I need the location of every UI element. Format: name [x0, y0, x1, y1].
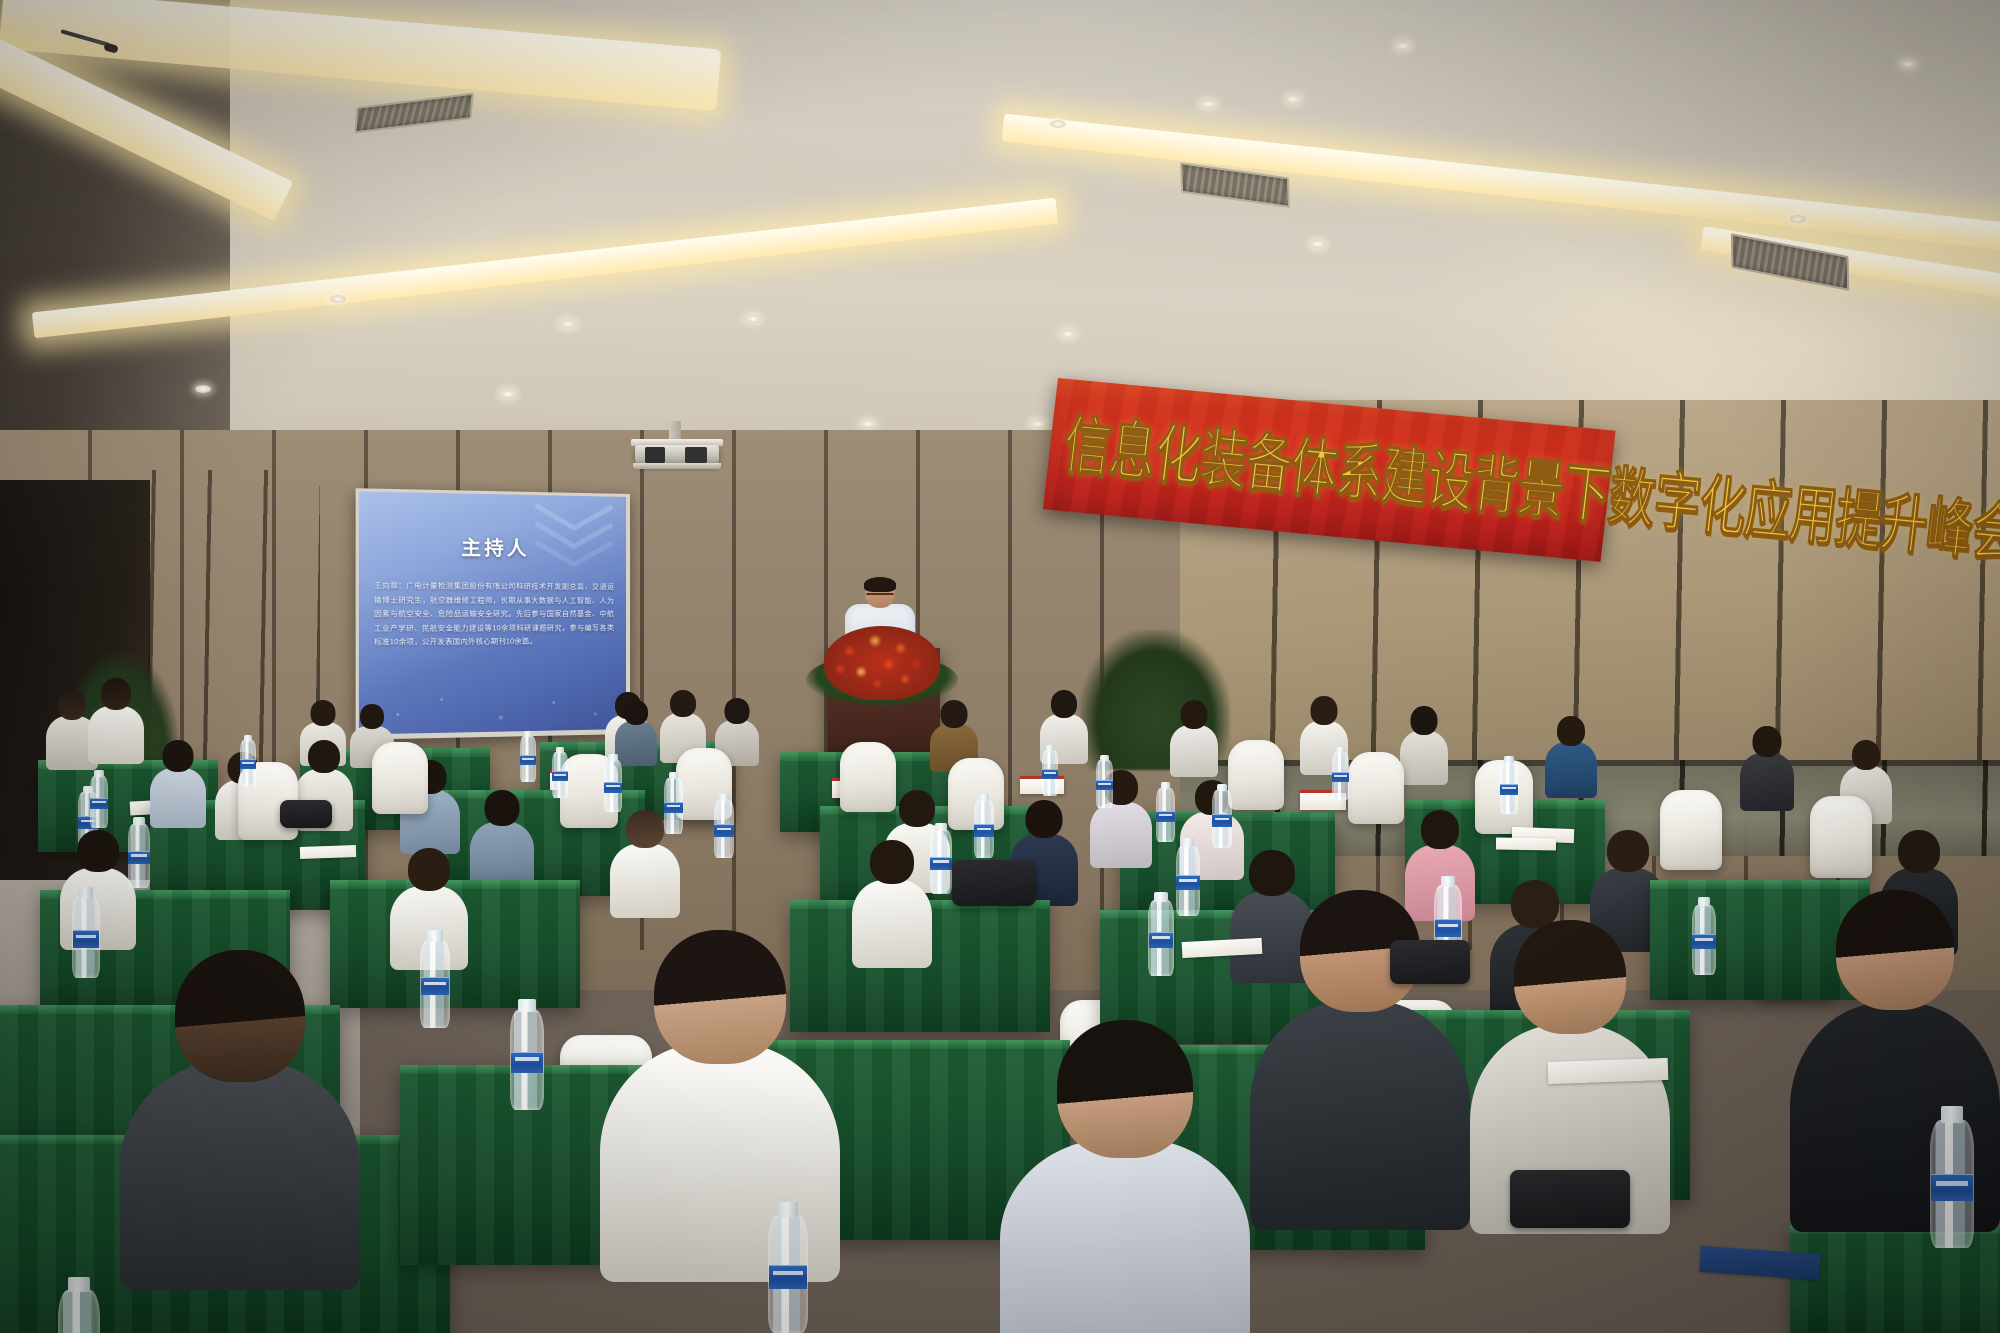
attendee-bag — [1390, 940, 1470, 984]
presenter-hair — [864, 577, 896, 592]
bottled-water — [520, 736, 536, 782]
bottled-water — [1156, 788, 1175, 842]
attendee-head — [58, 690, 86, 720]
attendee-head — [1607, 830, 1649, 872]
attendee-head — [1514, 920, 1626, 1034]
attendee-head — [654, 930, 786, 1064]
attendee-bag — [280, 800, 332, 828]
projected-slide: 主持人 王向章：广电计量检测集团股份有限公司科研技术开发副总监，交通运输博士研究… — [359, 491, 626, 734]
attendee-head — [77, 830, 119, 872]
attendee-head — [485, 790, 520, 826]
attendee-head — [870, 840, 914, 884]
bottled-water — [510, 1010, 544, 1110]
bottled-water — [664, 778, 683, 834]
bottled-water — [1212, 790, 1232, 848]
slide-body-text: 王向章：广电计量检测集团股份有限公司科研技术开发副总监，交通运输博士研究生，航空… — [374, 580, 614, 651]
bottled-water — [768, 1215, 808, 1333]
recessed-downlight — [1900, 60, 1916, 68]
bottled-water — [1692, 905, 1716, 975]
attendee-torso — [88, 706, 144, 764]
white-banquet-chair — [1348, 752, 1404, 824]
attendee-head — [941, 700, 968, 728]
attendee-head — [670, 690, 696, 717]
attendee-head — [899, 790, 935, 827]
bottled-water — [604, 760, 622, 812]
handout-papers — [300, 845, 356, 859]
attendee-head — [725, 698, 750, 724]
bottled-water — [128, 824, 150, 888]
seated-attendee — [1740, 726, 1794, 810]
attendee-torso — [1250, 1000, 1470, 1230]
recessed-downlight — [1310, 240, 1326, 248]
conference-room-photo: 信息化装备体系建设背景下数字化应用提升峰会 主持人 王向章：广电计量检测集团股份… — [0, 0, 2000, 1333]
attendee-head — [408, 848, 450, 891]
ceiling-mounted-projector — [631, 433, 723, 467]
bottled-water — [974, 800, 994, 858]
attendee-torso — [1170, 725, 1218, 777]
white-banquet-chair — [840, 742, 896, 812]
recessed-downlight — [1395, 42, 1411, 50]
attendee-head — [311, 700, 336, 726]
attendee-head — [1026, 800, 1063, 838]
glasses-icon — [866, 593, 894, 599]
white-banquet-chair — [1660, 790, 1722, 870]
attendee-bag — [952, 860, 1036, 906]
attendee-head — [626, 810, 664, 848]
projector-mount — [669, 421, 681, 441]
attendee-torso — [150, 768, 206, 828]
recessed-downlight — [860, 420, 876, 428]
seated-attendee — [615, 700, 657, 764]
handout-papers — [1548, 1058, 1669, 1084]
attendee-torso — [852, 880, 932, 968]
attendee-torso — [1400, 731, 1448, 785]
recessed-downlight — [1790, 215, 1806, 223]
attendee-head — [163, 740, 194, 772]
attendee-bag — [1510, 1170, 1630, 1228]
seated-attendee — [88, 678, 144, 764]
projector-shelf — [633, 463, 721, 469]
seated-attendee — [1170, 700, 1218, 774]
seated-attendee — [1400, 706, 1448, 782]
recessed-downlight — [1030, 420, 1046, 428]
white-banquet-chair — [372, 742, 428, 814]
attendee-head — [101, 678, 131, 710]
bottled-water — [552, 752, 568, 798]
attendee-torso — [1545, 742, 1597, 798]
recessed-downlight — [1060, 330, 1076, 338]
attendee-torso — [1740, 753, 1794, 811]
attendee-head — [1051, 690, 1077, 718]
bottled-water — [1500, 762, 1518, 814]
bottled-water — [72, 896, 100, 978]
seated-attendee — [1000, 1020, 1250, 1333]
attendee-head — [1557, 716, 1585, 746]
attendee-head — [1057, 1020, 1193, 1158]
bottled-water — [1332, 752, 1349, 800]
attendee-head — [1411, 706, 1438, 735]
attendee-head — [360, 704, 384, 729]
attendee-torso — [1000, 1138, 1250, 1333]
seated-attendee — [150, 740, 206, 826]
attendee-head — [1898, 830, 1940, 873]
attendee-head — [1852, 740, 1880, 770]
seated-attendee — [120, 950, 360, 1280]
bottled-water — [58, 1290, 100, 1333]
recessed-downlight — [1050, 120, 1066, 128]
attendee-head — [624, 700, 648, 725]
recessed-downlight — [560, 320, 576, 328]
attendee-head — [1753, 726, 1782, 757]
attendee-head — [1836, 890, 1954, 1010]
projection-screen: 主持人 王向章：广电计量检测集团股份有限公司科研技术开发副总监，交通运输博士研究… — [356, 488, 630, 740]
projector-lens-housing — [685, 447, 707, 463]
attendee-torso — [610, 844, 680, 918]
white-banquet-chair — [1228, 740, 1284, 810]
bottled-water — [90, 776, 108, 828]
recessed-downlight — [330, 295, 346, 303]
seated-attendee — [470, 790, 534, 888]
attendee-head — [1181, 700, 1208, 729]
seated-attendee — [1545, 716, 1597, 796]
attendee-head — [1311, 696, 1338, 725]
bottled-water — [1176, 846, 1200, 916]
bottled-water — [714, 800, 734, 858]
bottled-water — [930, 830, 952, 894]
flower-cluster — [824, 626, 940, 700]
attendee-torso — [120, 1060, 360, 1290]
bottled-water — [1096, 760, 1113, 808]
bottled-water — [1148, 900, 1174, 976]
recessed-downlight — [1285, 95, 1301, 103]
recessed-downlight — [1200, 100, 1216, 108]
recessed-downlight — [745, 315, 761, 323]
handout-papers — [1496, 837, 1556, 850]
slide-title: 主持人 — [359, 531, 626, 562]
bottled-water — [1930, 1120, 1974, 1248]
white-banquet-chair — [1810, 796, 1872, 878]
bottled-water — [420, 940, 450, 1028]
slide-background-dots — [359, 683, 626, 734]
seated-attendee — [852, 840, 932, 966]
attendee-head — [308, 740, 340, 773]
bottled-water — [240, 740, 256, 786]
recessed-downlight — [500, 390, 516, 398]
attendee-torso — [1090, 802, 1152, 868]
projector-vent — [645, 447, 665, 463]
floral-arrangement — [806, 620, 958, 712]
attendee-head — [1421, 810, 1459, 849]
attendee-head — [175, 950, 305, 1082]
bottled-water — [1042, 750, 1058, 796]
recessed-downlight — [195, 385, 211, 393]
